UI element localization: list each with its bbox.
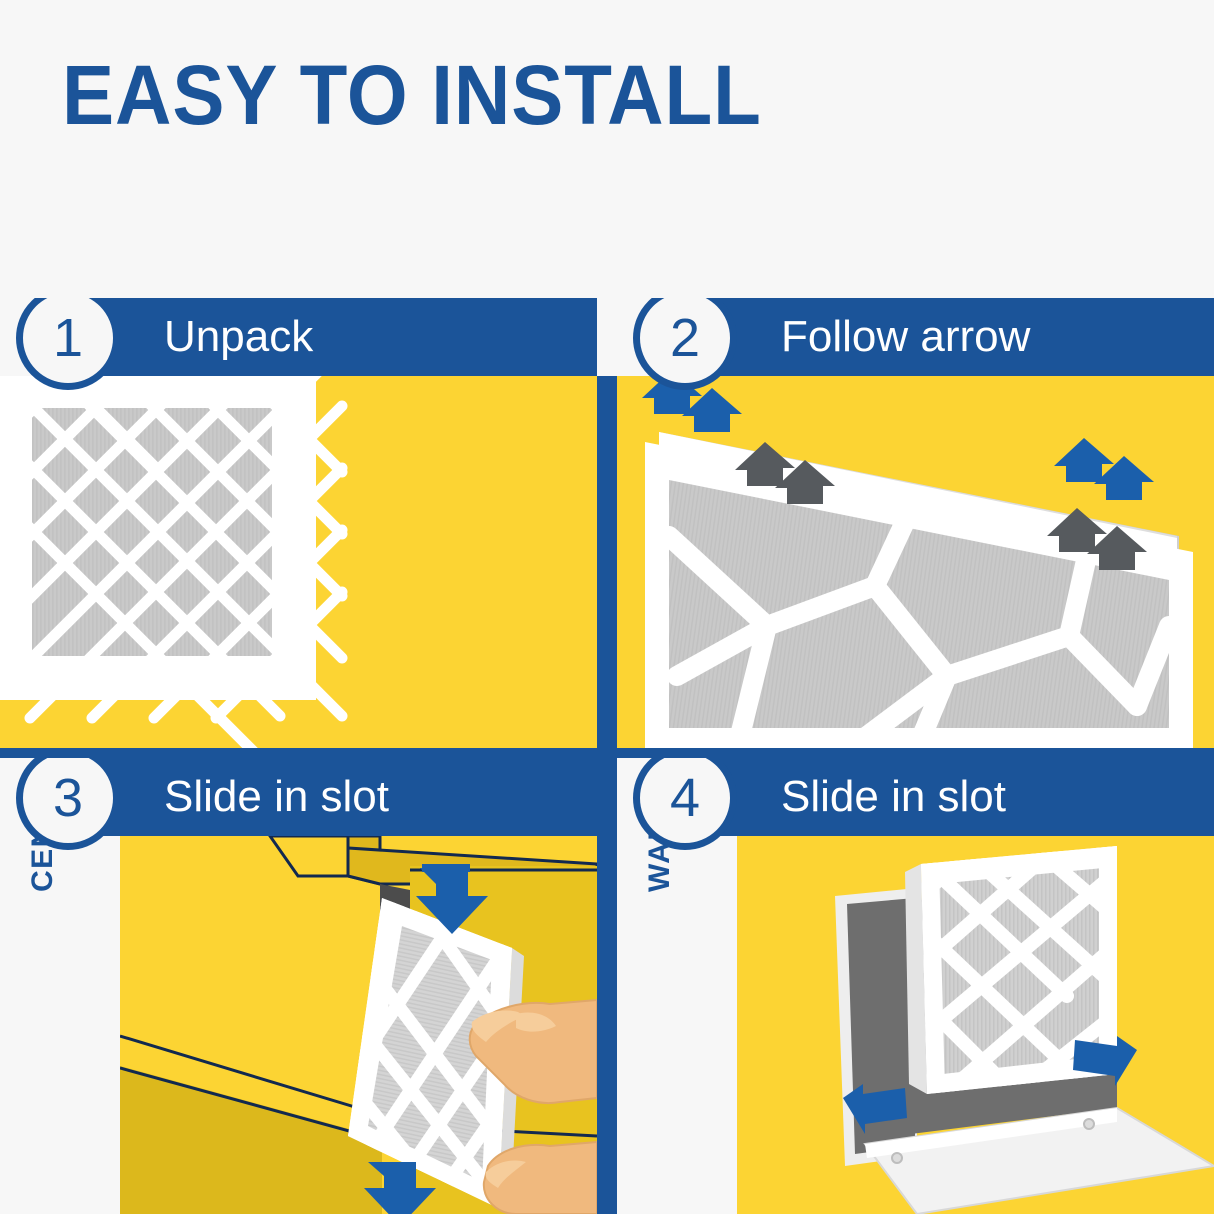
page-title: EASY TO INSTALL — [62, 52, 762, 138]
divider-horizontal-left — [0, 748, 597, 758]
step-panel-3: Slide in slot 3 CENTRAL UNIT — [0, 758, 597, 1214]
hand-lower — [484, 1142, 597, 1214]
step-4-illustration — [737, 836, 1214, 1214]
step-2-number: 2 — [640, 298, 730, 383]
step-3-label: Slide in slot — [164, 758, 389, 836]
wall-vent-icon — [737, 836, 1214, 1214]
step-4-label: Slide in slot — [781, 758, 1006, 836]
step-1-number-badge: 1 — [16, 298, 120, 390]
step-2-number-badge: 2 — [633, 298, 737, 390]
step-3-illustration — [120, 836, 597, 1214]
step-panel-4: Slide in slot 4 WALL UNIT — [617, 758, 1214, 1214]
hands-icon — [120, 836, 597, 1214]
step-4-number-badge: 4 — [633, 758, 737, 850]
step-panel-1: Unpack 1 — [0, 298, 597, 748]
filter-front-icon — [0, 376, 597, 748]
step-1-label: Unpack — [164, 298, 313, 376]
divider-vertical — [597, 376, 617, 1214]
step-3-number: 3 — [23, 758, 113, 843]
step-2-illustration — [617, 376, 1214, 748]
infographic-root: EASY TO INSTALL — [0, 0, 1214, 1214]
step-4-number: 4 — [640, 758, 730, 843]
step-1-header-bar — [60, 298, 597, 376]
airflow-arrow-right — [1054, 438, 1154, 500]
step-1-number: 1 — [23, 298, 113, 383]
step-panel-2: Follow arrow 2 — [617, 298, 1214, 748]
step-2-label: Follow arrow — [781, 298, 1030, 376]
divider-horizontal-right — [617, 748, 1214, 758]
airflow-arrow-icon — [617, 376, 1214, 748]
step-1-illustration — [0, 376, 597, 748]
step-3-number-badge: 3 — [16, 758, 120, 850]
